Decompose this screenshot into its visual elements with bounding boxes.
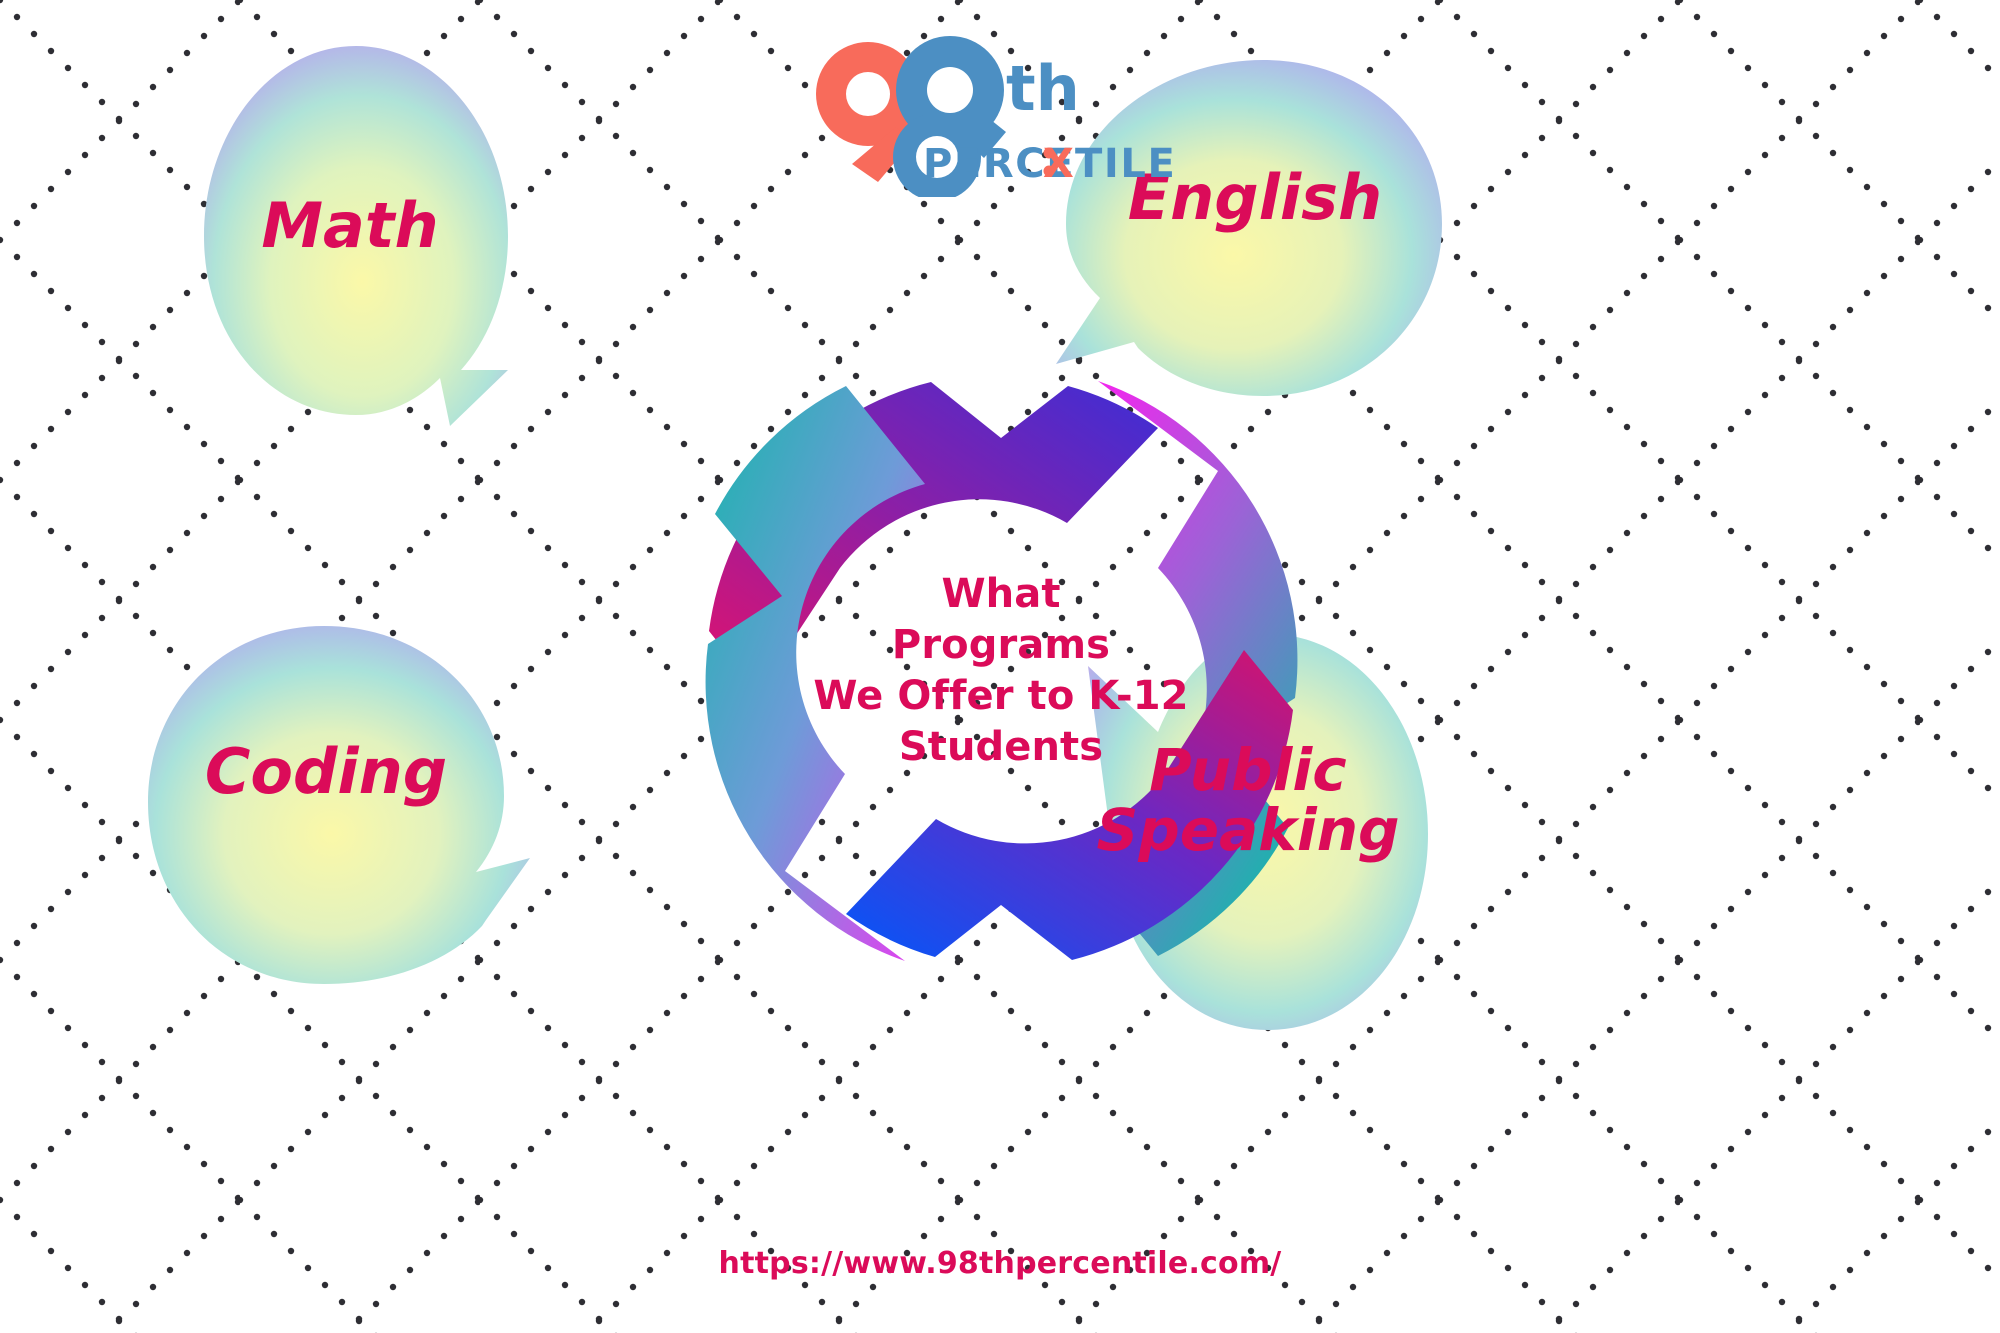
logo-suffix-th: th [1006,52,1080,125]
website-url[interactable]: https://www.98thpercentile.com/ [0,1246,2000,1281]
cycle-arrow-diagram [598,268,1404,1074]
infographic-canvas: th PERCE X TILE [0,0,2000,1333]
bubble-math-shape [204,46,508,426]
cycle-segment-bottom-right [846,650,1293,960]
bubble-coding-shape [148,626,530,984]
brand-logo: th PERCE X TILE [800,32,1220,197]
logo-wordmark: PERCE X TILE [923,141,1176,187]
svg-text:TILE: TILE [1075,141,1176,187]
bubble-coding[interactable] [138,620,538,992]
bubble-math[interactable] [178,40,538,440]
